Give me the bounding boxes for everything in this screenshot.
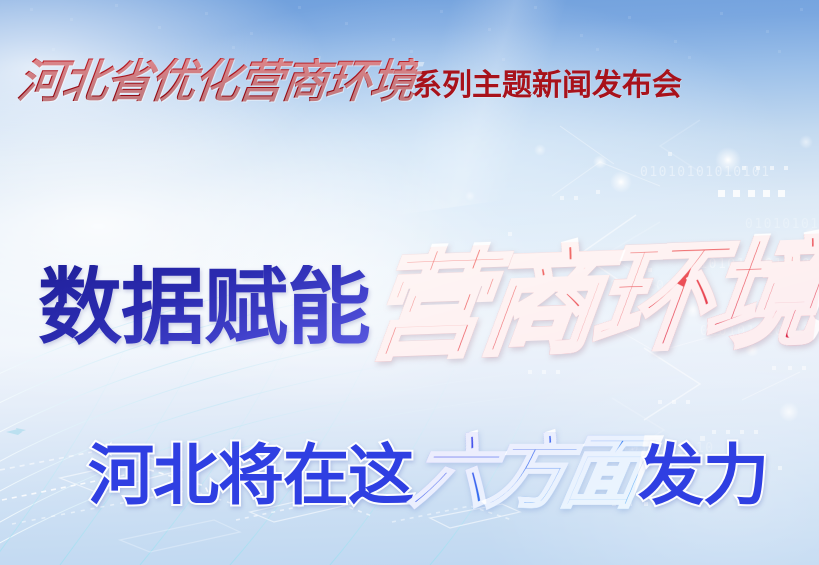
node-marker [6, 428, 26, 435]
glow-diagonal-beam [314, 0, 677, 222]
svg-text:01010101010101: 01010101010101 [640, 165, 771, 180]
headline-line-1: 数据赋能 营商环境 [34, 255, 818, 359]
halftone-field [30, 4, 803, 61]
headline-emphasis-business-environment: 营商环境 [362, 233, 819, 367]
headline-line-2: 河北将在这 六方面 发力 [86, 440, 770, 512]
poster-canvas: 01010101010101 0101010101 01010101010101… [0, 0, 819, 565]
headline-trail-exert-effort: 发力 [636, 443, 770, 509]
event-title-calligraphy: 河北省优化营商环境 [15, 58, 419, 104]
headline-lead-data-empowerment: 数据赋能 [34, 265, 374, 349]
headline-emphasis-six-aspects: 六方面 [406, 432, 645, 512]
event-title-suffix: 系列主题新闻发布会 [412, 71, 682, 104]
event-series-title: 河北省优化营商环境 系列主题新闻发布会 [18, 58, 682, 104]
headline-lead-hebei: 河北将在这 [86, 443, 415, 509]
